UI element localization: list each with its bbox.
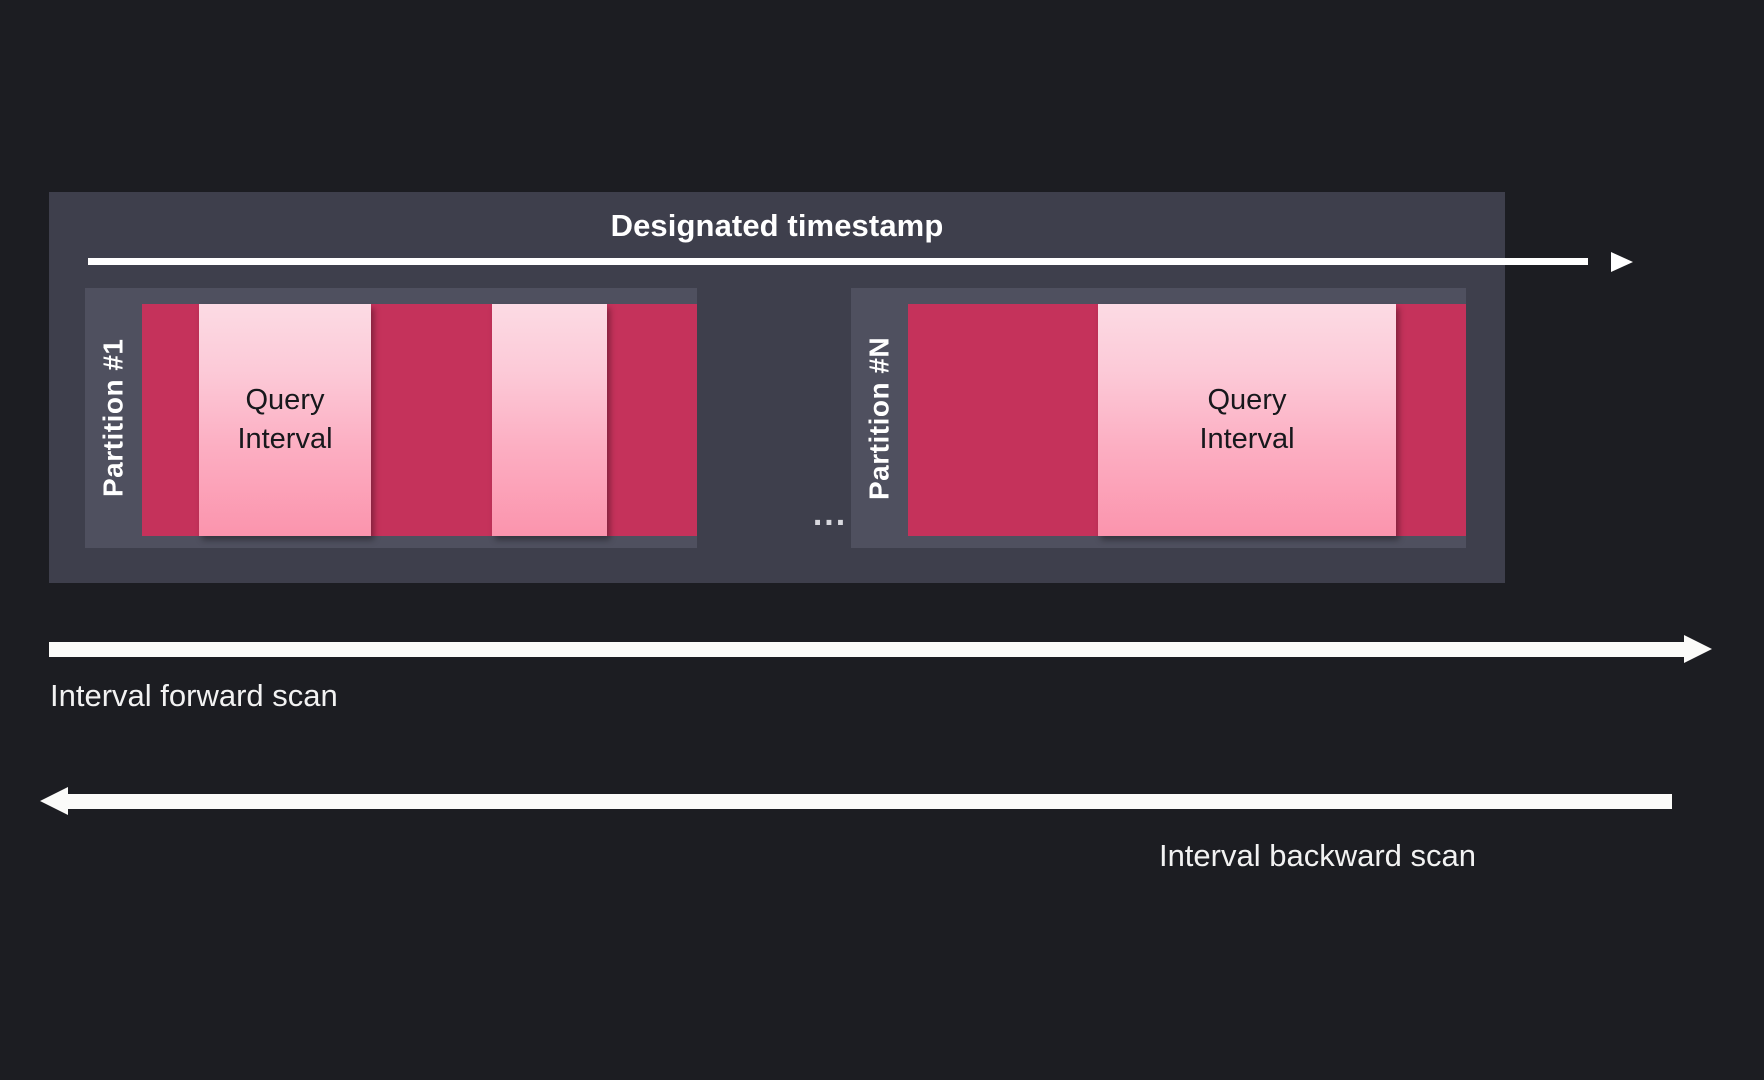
- partition-block-n[interactable]: Partition #N Query Interval: [851, 288, 1466, 548]
- partitions-row: Partition #1 Query Interval ... Partitio…: [85, 288, 1469, 548]
- timestamp-axis-arrow-shaft: [88, 258, 1588, 265]
- interval-forward-scan-label: Interval forward scan: [50, 678, 338, 714]
- designated-timestamp-panel: Designated timestamp Partition #1 Query …: [49, 192, 1505, 583]
- query-interval-bar[interactable]: Query Interval: [199, 304, 371, 536]
- partition-label-n: Partition #N: [851, 288, 908, 548]
- query-interval-label: Query Interval: [237, 381, 332, 458]
- query-interval-bar-secondary[interactable]: [492, 304, 607, 536]
- interval-backward-scan-label: Interval backward scan: [1159, 838, 1476, 874]
- interval-bar: [908, 304, 1098, 536]
- page-title: Designated timestamp: [49, 208, 1505, 244]
- query-interval-bar[interactable]: Query Interval: [1098, 304, 1396, 536]
- query-interval-label: Query Interval: [1199, 381, 1294, 458]
- partition-n-bars: Query Interval: [908, 288, 1466, 548]
- partition-1-bars: Query Interval: [142, 288, 697, 548]
- interval-forward-scan-arrow: [49, 635, 1712, 663]
- diagram-canvas: Designated timestamp Partition #1 Query …: [0, 0, 1764, 1080]
- timestamp-axis-arrow: [88, 252, 1633, 272]
- partition-label-1: Partition #1: [85, 288, 142, 548]
- interval-backward-scan-arrow: [40, 787, 1672, 815]
- interval-bar: [1396, 304, 1466, 536]
- interval-bar: [142, 304, 199, 536]
- forward-arrow-shaft: [49, 642, 1686, 657]
- partitions-ellipsis: ...: [808, 384, 852, 644]
- forward-arrowhead-icon: [1684, 635, 1712, 663]
- partition-block-1[interactable]: Partition #1 Query Interval: [85, 288, 697, 548]
- backward-arrow-shaft: [66, 794, 1672, 809]
- interval-bar: [607, 304, 697, 536]
- backward-arrowhead-icon: [40, 787, 68, 815]
- interval-bar: [371, 304, 492, 536]
- timestamp-axis-arrowhead-icon: [1611, 252, 1633, 272]
